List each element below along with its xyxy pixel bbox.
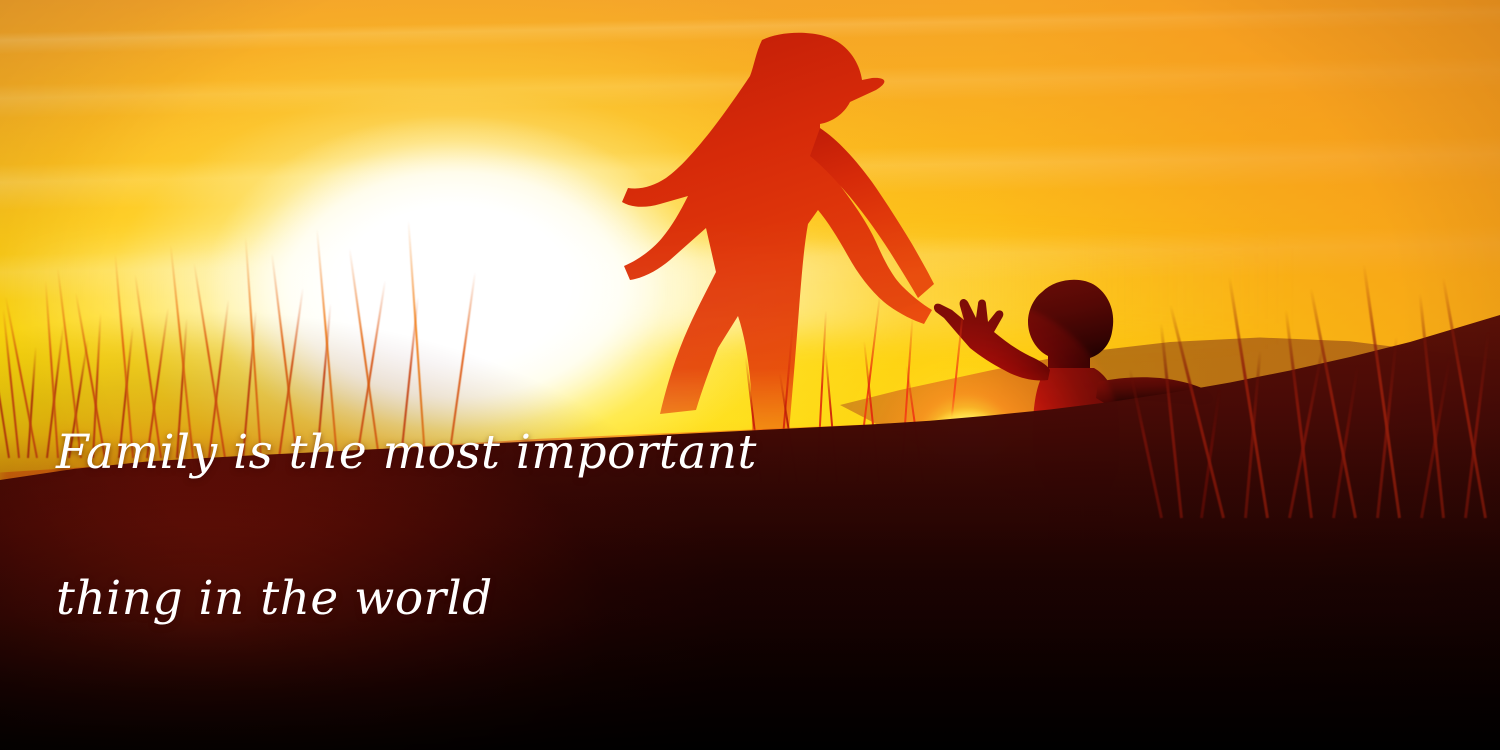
sunset-family-banner: Family is the most important thing in th… bbox=[0, 0, 1500, 750]
caption-text: Family is the most important thing in th… bbox=[56, 331, 757, 722]
caption-line-1: Family is the most important bbox=[56, 429, 757, 478]
caption-line-2: thing in the world bbox=[56, 575, 757, 624]
